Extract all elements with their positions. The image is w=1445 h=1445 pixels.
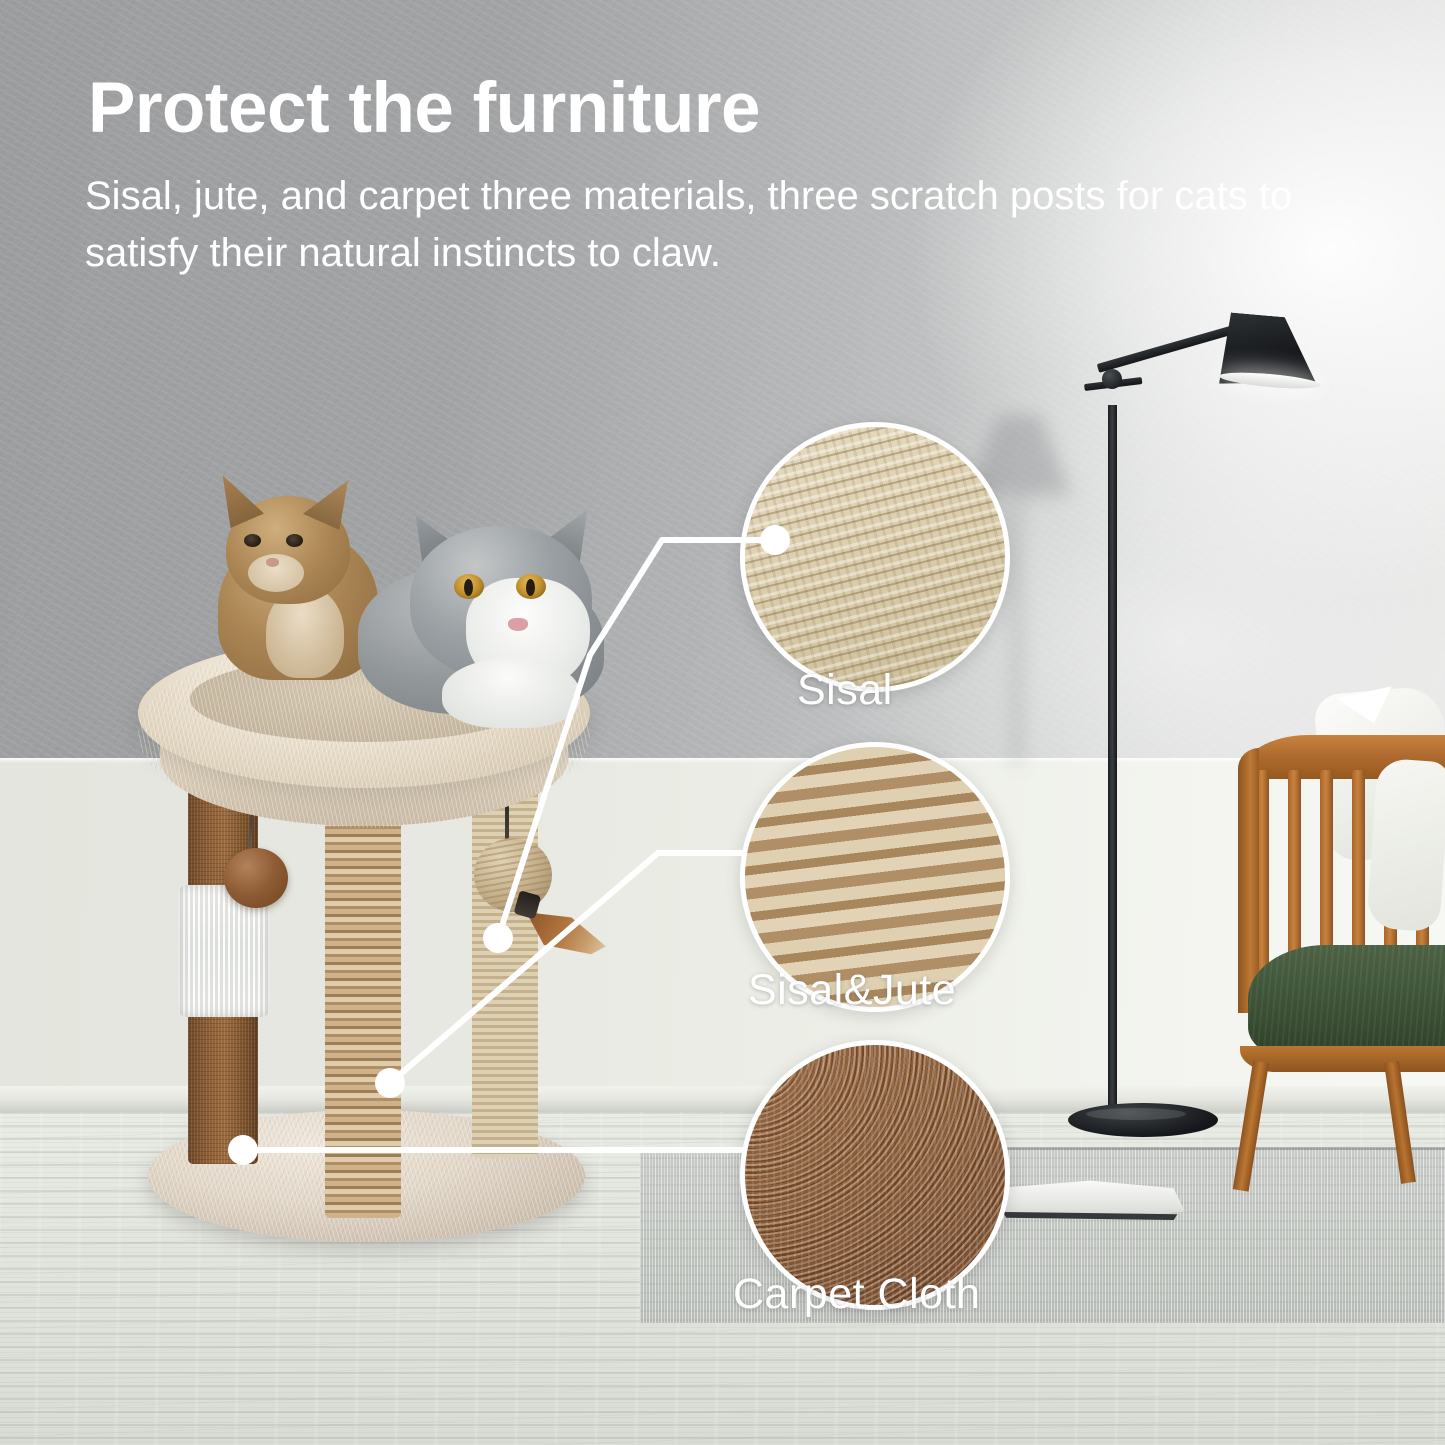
page-title: Protect the furniture (88, 68, 760, 149)
floor-lamp-base-highlight (1086, 1108, 1186, 1120)
chair-pillow-small (1366, 758, 1445, 933)
callout-label-jute: Sisal&Jute (748, 966, 956, 1015)
jute-post (325, 800, 401, 1218)
kitten-eye-left (244, 534, 261, 547)
callout-swatch-sisal (740, 422, 1010, 692)
callout-label-carpet: Carpet Cloth (733, 1270, 980, 1319)
cat-nose (508, 618, 528, 631)
callout-label-sisal: Sisal (797, 666, 893, 715)
british-shorthair-cat (358, 506, 608, 706)
kitten-nose (266, 558, 279, 567)
pompom-toy (224, 848, 288, 908)
floor-lamp-pole (1108, 405, 1117, 1120)
product-feature-image: Sisal Sisal&Jute Carpet Cloth Protect th… (0, 0, 1445, 1445)
open-book (995, 1178, 1185, 1228)
cat-tree (120, 470, 640, 1280)
chair-cushion (1248, 945, 1445, 1057)
kitten-eye-right (286, 534, 303, 547)
floor-lamp-joint (1102, 369, 1122, 389)
page-subtitle: Sisal, jute, and carpet three materials,… (85, 168, 1375, 282)
chair-seat-rail (1240, 1046, 1445, 1072)
